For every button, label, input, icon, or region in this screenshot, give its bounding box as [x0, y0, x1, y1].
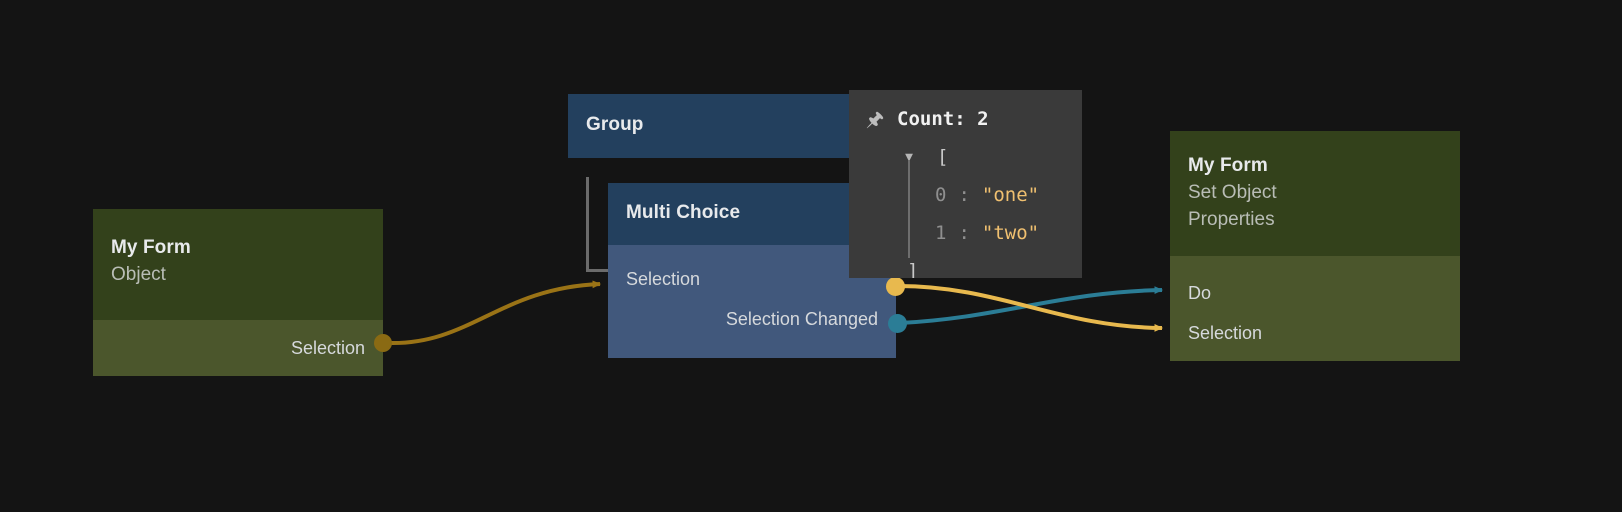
node-set-object-properties[interactable]: My Form Set Object Properties Do Selecti…	[1170, 131, 1460, 361]
entry-separator: :	[958, 222, 969, 244]
inspector-entry-row: 0 : "one"	[849, 176, 1082, 214]
inspector-title-row[interactable]: 🖈 Count: 2	[849, 100, 1082, 138]
port-row-input-selection[interactable]: Selection	[1170, 313, 1460, 353]
port-label: Selection Changed	[726, 310, 878, 328]
output-port-selection-changed-dot[interactable]	[888, 314, 907, 333]
node-subtitle-line2: Properties	[1188, 207, 1442, 234]
close-bracket: ]	[907, 260, 918, 278]
node-title: My Form	[111, 235, 365, 262]
inspector-open-bracket-row[interactable]: ▼ [	[849, 138, 1082, 176]
port-label: Selection	[1188, 324, 1262, 342]
node-subtitle: Object	[111, 262, 365, 289]
port-label: Do	[1188, 284, 1211, 302]
wire-selectionchanged-to-do	[900, 290, 1162, 323]
wire-multichoice-value-to-selection	[898, 286, 1162, 328]
node-group[interactable]: Group	[568, 94, 856, 158]
entry-value: "one"	[982, 184, 1039, 206]
entry-index: 0	[935, 184, 946, 206]
entry-index: 1	[935, 222, 946, 244]
pin-icon[interactable]: 🖈	[865, 109, 885, 129]
inspector-entry-row: 1 : "two"	[849, 214, 1082, 252]
node-title: My Form	[1188, 153, 1442, 180]
node-body[interactable]: Do Selection	[1170, 256, 1460, 361]
inspector-close-bracket-row: ]	[849, 252, 1082, 278]
wire-myform-selection-to-multichoice-selection	[389, 284, 600, 343]
port-label: Selection	[626, 270, 700, 288]
port-row-output-selection[interactable]: Selection	[93, 328, 383, 368]
entry-value: "two"	[982, 222, 1039, 244]
node-title: Multi Choice	[626, 200, 878, 227]
open-bracket: [	[937, 146, 948, 168]
node-graph-canvas[interactable]: My Form Object Selection Group Multi Cho…	[0, 0, 1622, 512]
node-my-form-object[interactable]: My Form Object Selection	[93, 209, 383, 376]
entry-separator: :	[958, 184, 969, 206]
node-body[interactable]: Selection	[93, 320, 383, 376]
output-port-selection-dot[interactable]	[374, 334, 392, 352]
port-row-input-do[interactable]: Do	[1170, 273, 1460, 313]
inspector-indent-guide	[908, 160, 910, 258]
node-header[interactable]: Group	[568, 94, 856, 158]
node-header[interactable]: My Form Set Object Properties	[1170, 131, 1460, 256]
node-title: Group	[586, 112, 838, 139]
node-subtitle-line1: Set Object	[1188, 180, 1442, 207]
output-port-value-dot[interactable]	[886, 277, 905, 296]
port-row-output-selection-changed[interactable]: Selection Changed	[608, 299, 896, 339]
value-inspector-popup[interactable]: 🖈 Count: 2 ▼ [ 0 : "one" 1 : "two" ]	[849, 90, 1082, 278]
node-header[interactable]: My Form Object	[93, 209, 383, 320]
port-label: Selection	[291, 339, 365, 357]
inspector-title: Count: 2	[897, 108, 989, 130]
